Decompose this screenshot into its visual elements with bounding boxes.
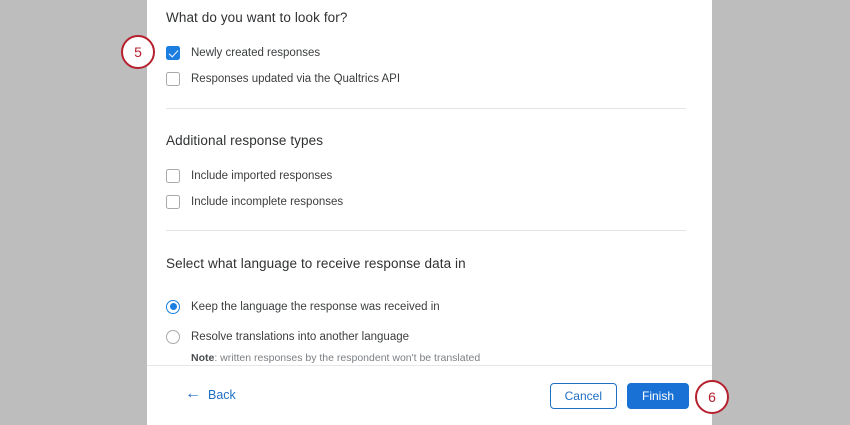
checkbox-include-imported-responses[interactable]	[166, 169, 180, 183]
response-options-dialog: What do you want to look for? Newly crea…	[147, 0, 712, 425]
checkbox-newly-created-responses[interactable]	[166, 46, 180, 60]
option-row-resolve-translations[interactable]: Resolve translations into another langua…	[166, 325, 686, 348]
option-label-resolve-translations: Resolve translations into another langua…	[191, 331, 409, 343]
left-arrow-icon: ←	[185, 386, 201, 402]
divider-one	[166, 108, 686, 109]
option-label-include-imported-responses: Include imported responses	[191, 170, 332, 182]
dialog-footer: ← Back Cancel Finish	[147, 365, 712, 425]
checkbox-responses-updated-api[interactable]	[166, 72, 180, 86]
checkbox-include-incomplete-responses[interactable]	[166, 195, 180, 209]
cancel-button[interactable]: Cancel	[550, 383, 617, 409]
back-button[interactable]: ← Back	[185, 387, 236, 403]
radio-keep-language[interactable]	[166, 300, 180, 314]
section-language-selection: Select what language to receive response…	[166, 256, 686, 364]
section-title-additional-response-types: Additional response types	[166, 133, 686, 148]
radio-resolve-translations[interactable]	[166, 330, 180, 344]
translation-note-text: : written responses by the respondent wo…	[214, 352, 480, 364]
step-badge-5: 5	[121, 35, 155, 69]
section-title-what-to-look-for: What do you want to look for?	[166, 10, 686, 25]
divider-two	[166, 230, 686, 231]
option-row-newly-created-responses[interactable]: Newly created responses	[166, 41, 686, 64]
translation-note: Note: written responses by the responden…	[191, 352, 686, 364]
section-additional-response-types: Additional response types Include import…	[166, 133, 686, 216]
section-title-language-selection: Select what language to receive response…	[166, 256, 686, 271]
option-label-newly-created-responses: Newly created responses	[191, 47, 320, 59]
option-label-keep-language: Keep the language the response was recei…	[191, 301, 440, 313]
translation-note-prefix: Note	[191, 352, 214, 364]
option-row-responses-updated-api[interactable]: Responses updated via the Qualtrics API	[166, 67, 686, 90]
footer-action-buttons: Cancel Finish	[550, 383, 689, 409]
option-list-what-to-look-for: Newly created responses Responses update…	[166, 41, 686, 90]
step-badge-6: 6	[695, 380, 729, 414]
finish-button[interactable]: Finish	[627, 383, 689, 409]
section-what-to-look-for: What do you want to look for? Newly crea…	[166, 10, 686, 93]
option-row-include-imported-responses[interactable]: Include imported responses	[166, 164, 686, 187]
option-list-language-selection: Keep the language the response was recei…	[166, 295, 686, 364]
option-label-include-incomplete-responses: Include incomplete responses	[191, 196, 343, 208]
option-label-responses-updated-api: Responses updated via the Qualtrics API	[191, 73, 400, 85]
option-row-keep-language[interactable]: Keep the language the response was recei…	[166, 295, 686, 318]
option-list-additional-response-types: Include imported responses Include incom…	[166, 164, 686, 213]
option-row-include-incomplete-responses[interactable]: Include incomplete responses	[166, 190, 686, 213]
back-button-label: Back	[208, 388, 236, 402]
